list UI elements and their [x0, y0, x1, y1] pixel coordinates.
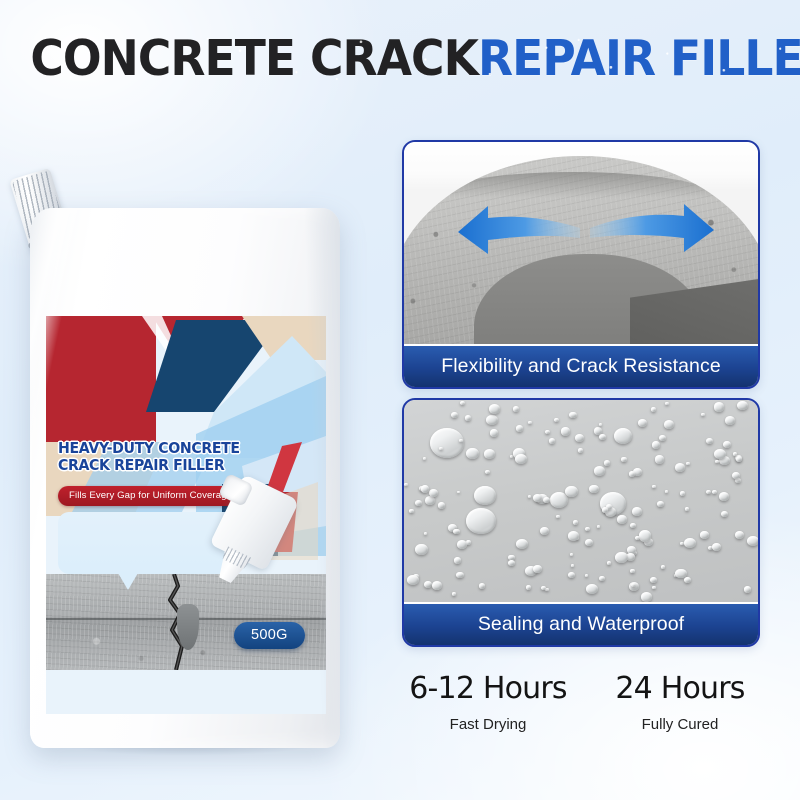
water-droplet: [631, 583, 636, 587]
water-droplet: [456, 572, 463, 578]
water-droplet: [549, 438, 556, 444]
water-droplet: [712, 543, 721, 551]
water-droplet: [723, 441, 731, 448]
water-droplet: [651, 407, 656, 411]
water-droplet: [451, 412, 458, 418]
feature-panel-flexibility: Flexibility and Crack Resistance: [402, 140, 760, 389]
water-droplet: [575, 434, 585, 442]
stat-fast-drying: 6-12 Hours Fast Drying: [400, 672, 576, 733]
water-droplet: [657, 501, 663, 507]
water-droplet: [744, 586, 751, 593]
right-arrow: [590, 204, 714, 252]
water-droplet: [629, 471, 635, 477]
water-droplet: [432, 581, 442, 590]
water-droplet: [733, 452, 737, 456]
water-droplet: [652, 586, 656, 589]
water-droplet: [409, 509, 413, 513]
water-droplet: [561, 427, 571, 436]
water-droplet: [568, 572, 575, 578]
water-droplet: [457, 540, 467, 549]
water-droplet: [438, 502, 446, 509]
page-title: CONCRETE CRACK REPAIR FILLER: [0, 34, 800, 83]
water-droplet: [578, 448, 584, 453]
water-droplet: [439, 447, 443, 450]
stat-fully-cured: 24 Hours Fully Cured: [592, 672, 768, 733]
water-droplet: [533, 565, 542, 573]
water-droplet: [641, 592, 652, 602]
panel-caption-flexibility: Flexibility and Crack Resistance: [404, 346, 758, 387]
water-droplet: [659, 435, 666, 441]
water-droplet: [573, 520, 578, 525]
water-droplet: [714, 449, 726, 459]
water-droplet: [719, 492, 729, 501]
water-droplet: [453, 529, 459, 535]
package-label: HEAVY-DUTY CONCRETE CRACK REPAIR FILLER …: [46, 316, 326, 714]
water-droplet: [614, 428, 632, 444]
water-droplet: [486, 415, 497, 425]
water-droplet: [543, 497, 550, 503]
water-droplet: [585, 574, 588, 577]
label-title: HEAVY-DUTY CONCRETE CRACK REPAIR FILLER: [58, 440, 291, 474]
water-droplet: [685, 507, 689, 511]
water-droplet: [712, 490, 717, 494]
water-droplet: [556, 515, 560, 518]
stat-value: 24 Hours: [592, 672, 768, 706]
water-droplet: [513, 406, 519, 411]
water-droplet: [725, 416, 735, 425]
water-droplet: [630, 569, 634, 573]
water-droplet: [652, 441, 660, 448]
water-droplet: [490, 429, 499, 437]
water-droplet: [407, 575, 419, 585]
water-droplet: [680, 491, 685, 496]
water-droplet: [714, 402, 725, 412]
water-droplet: [665, 402, 669, 405]
water-droplet: [639, 530, 652, 541]
water-droplets-beading-surface-image: [404, 400, 758, 602]
water-droplet: [617, 515, 627, 524]
water-droplet: [621, 457, 626, 462]
headline-dark-part: CONCRETE CRACK: [30, 34, 478, 83]
water-droplet: [607, 561, 611, 565]
water-droplet: [570, 553, 574, 556]
left-arrow: [458, 206, 580, 254]
water-droplet: [526, 585, 531, 590]
feature-panel-waterproof: Sealing and Waterproof: [402, 398, 760, 647]
stat-value: 6-12 Hours: [400, 672, 576, 706]
water-droplet: [508, 560, 515, 566]
water-droplet: [516, 425, 524, 432]
water-droplet: [715, 460, 719, 464]
panel-caption-waterproof: Sealing and Waterproof: [404, 604, 758, 645]
product-package: HEAVY-DUTY CONCRETE CRACK REPAIR FILLER …: [6, 160, 366, 750]
water-droplet: [586, 584, 598, 595]
pouch-body: HEAVY-DUTY CONCRETE CRACK REPAIR FILLER …: [30, 208, 340, 748]
water-droplet: [423, 457, 426, 460]
water-droplet: [484, 449, 495, 459]
water-droplet: [597, 525, 600, 528]
water-droplet: [652, 485, 656, 488]
water-droplet: [599, 434, 606, 440]
water-droplet: [737, 401, 748, 410]
water-droplet: [747, 536, 758, 546]
headline-blue-part: REPAIR FILLER: [478, 34, 800, 83]
product-infographic: CONCRETE CRACK REPAIR FILLER: [0, 0, 800, 800]
stat-label: Fully Cured: [592, 716, 768, 733]
water-droplet: [528, 421, 532, 425]
stat-label: Fast Drying: [400, 716, 576, 733]
water-droplet: [700, 531, 708, 538]
water-droplet: [604, 460, 610, 466]
cure-time-stats: 6-12 Hours Fast Drying 24 Hours Fully Cu…: [396, 672, 776, 756]
concrete-mound-with-stretch-arrows-image: [404, 142, 758, 344]
water-droplet: [430, 428, 464, 458]
water-droplet: [516, 539, 527, 549]
headline-wrap: CONCRETE CRACK REPAIR FILLER: [30, 34, 800, 83]
water-droplet: [569, 412, 577, 419]
water-droplet: [489, 404, 500, 414]
water-droplet: [421, 485, 430, 493]
weight-badge: 500G: [234, 622, 305, 649]
